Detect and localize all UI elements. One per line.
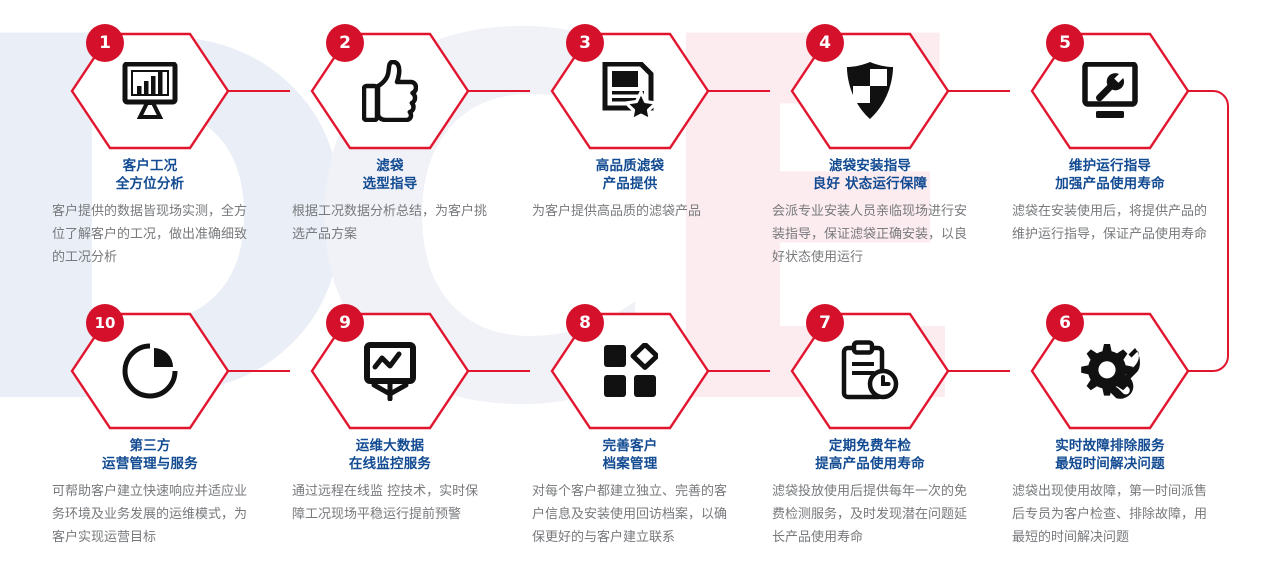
step-hex-1: 1 bbox=[70, 32, 230, 150]
step-badge-4: 4 bbox=[806, 24, 844, 62]
step-node-9[interactable]: 9 运维大数据 在线监控服务 通过远程在线监 控技术，实时保障工况现场平稳运行提… bbox=[270, 312, 510, 526]
step-node-5[interactable]: 5 维护运行指导 加强产品使用寿命 滤袋在安装使用后，将提供产品的维护运行指导，… bbox=[990, 32, 1230, 246]
step-node-3[interactable]: 3 高品质滤袋 产品提供 为客户提供高品质的滤袋产品 bbox=[510, 32, 750, 223]
step-title-line2: 加强产品使用寿命 bbox=[990, 175, 1230, 193]
step-desc-8: 对每个客户都建立独立、完善的客户信息及安装使用回访档案，以确保更好的与客户建立联… bbox=[532, 480, 728, 549]
step-hex-7: 7 bbox=[790, 312, 950, 430]
step-title-line1: 滤袋 bbox=[270, 157, 510, 175]
step-node-10[interactable]: 10 第三方 运营管理与服务 可帮助客户建立快速响应并适应业务环境及业务发展的运… bbox=[30, 312, 270, 549]
step-title-10: 第三方 运营管理与服务 bbox=[30, 437, 270, 473]
step-desc-9: 通过远程在线监 控技术，实时保障工况现场平稳运行提前预警 bbox=[292, 480, 488, 526]
step-title-line2: 运营管理与服务 bbox=[30, 455, 270, 473]
step-title-4: 滤袋安装指导 良好 状态运行保障 bbox=[750, 157, 990, 193]
step-desc-6: 滤袋出现使用故障，第一时间派售后专员为客户检查、排除故障，用最短的时间解决问题 bbox=[1012, 480, 1208, 549]
step-badge-10: 10 bbox=[86, 304, 124, 342]
step-title-line1: 高品质滤袋 bbox=[510, 157, 750, 175]
step-hex-2: 2 bbox=[310, 32, 470, 150]
step-desc-3: 为客户提供高品质的滤袋产品 bbox=[532, 200, 728, 223]
infographic-canvas: D C E bbox=[0, 0, 1281, 572]
step-title-8: 完善客户 档案管理 bbox=[510, 437, 750, 473]
step-hex-6: 6 bbox=[1030, 312, 1190, 430]
step-desc-7: 滤袋投放使用后提供每年一次的免费检测服务，及时发现潜在问题延长产品使用寿命 bbox=[772, 480, 968, 549]
step-title-line1: 运维大数据 bbox=[270, 437, 510, 455]
step-desc-5: 滤袋在安装使用后，将提供产品的维护运行指导，保证产品使用寿命 bbox=[1012, 200, 1208, 246]
step-badge-8: 8 bbox=[566, 304, 604, 342]
step-title-line2: 选型指导 bbox=[270, 175, 510, 193]
step-desc-10: 可帮助客户建立快速响应并适应业务环境及业务发展的运维模式，为客户实现运营目标 bbox=[52, 480, 248, 549]
step-title-2: 滤袋 选型指导 bbox=[270, 157, 510, 193]
step-desc-2: 根据工况数据分析总结，为客户挑选产品方案 bbox=[292, 200, 488, 246]
step-title-line1: 滤袋安装指导 bbox=[750, 157, 990, 175]
step-badge-3: 3 bbox=[566, 24, 604, 62]
step-hex-4: 4 bbox=[790, 32, 950, 150]
step-node-8[interactable]: 8 完善客户 档案管理 对每个客户都建立独立、完善的客户信息及安装使用回访档案，… bbox=[510, 312, 750, 549]
step-title-line1: 实时故障排除服务 bbox=[990, 437, 1230, 455]
step-node-1[interactable]: 1 客户工况 全方位分析 客户提供的数据皆现场实测，全方位了解客户的工况，做出准… bbox=[30, 32, 270, 269]
step-title-line2: 最短时间解决问题 bbox=[990, 455, 1230, 473]
step-hex-10: 10 bbox=[70, 312, 230, 430]
step-node-2[interactable]: 2 滤袋 选型指导 根据工况数据分析总结，为客户挑选产品方案 bbox=[270, 32, 510, 246]
step-title-line1: 定期免费年检 bbox=[750, 437, 990, 455]
step-badge-7: 7 bbox=[806, 304, 844, 342]
step-title-line1: 完善客户 bbox=[510, 437, 750, 455]
step-badge-6: 6 bbox=[1046, 304, 1084, 342]
step-title-5: 维护运行指导 加强产品使用寿命 bbox=[990, 157, 1230, 193]
step-title-line2: 档案管理 bbox=[510, 455, 750, 473]
step-hex-5: 5 bbox=[1030, 32, 1190, 150]
step-desc-1: 客户提供的数据皆现场实测，全方位了解客户的工况，做出准确细致的工况分析 bbox=[52, 200, 248, 269]
step-hex-9: 9 bbox=[310, 312, 470, 430]
step-badge-2: 2 bbox=[326, 24, 364, 62]
step-hex-8: 8 bbox=[550, 312, 710, 430]
step-title-line1: 第三方 bbox=[30, 437, 270, 455]
step-title-line1: 维护运行指导 bbox=[990, 157, 1230, 175]
step-desc-4: 会派专业安装人员亲临现场进行安装指导，保证滤袋正确安装，以良好状态使用运行 bbox=[772, 200, 968, 269]
step-hex-3: 3 bbox=[550, 32, 710, 150]
step-badge-5: 5 bbox=[1046, 24, 1084, 62]
step-title-line1: 客户工况 bbox=[30, 157, 270, 175]
step-title-line2: 全方位分析 bbox=[30, 175, 270, 193]
step-node-7[interactable]: 7 定期免费年检 提高产品使用寿命 滤袋投放使用后提供每年一次的免费检测服务，及… bbox=[750, 312, 990, 549]
step-badge-1: 1 bbox=[86, 24, 124, 62]
step-node-6[interactable]: 6 实时故障排除服务 最短时间解决问题 滤袋出现使用故障，第一时间派售后专员为客… bbox=[990, 312, 1230, 549]
step-title-line2: 良好 状态运行保障 bbox=[750, 175, 990, 193]
step-title-line2: 提高产品使用寿命 bbox=[750, 455, 990, 473]
step-title-6: 实时故障排除服务 最短时间解决问题 bbox=[990, 437, 1230, 473]
step-title-line2: 产品提供 bbox=[510, 175, 750, 193]
step-title-3: 高品质滤袋 产品提供 bbox=[510, 157, 750, 193]
step-badge-9: 9 bbox=[326, 304, 364, 342]
step-title-1: 客户工况 全方位分析 bbox=[30, 157, 270, 193]
step-node-4[interactable]: 4 滤袋安装指导 良好 状态运行保障 会派专业安装人员亲临现场进行安装指导，保证… bbox=[750, 32, 990, 269]
step-title-line2: 在线监控服务 bbox=[270, 455, 510, 473]
step-title-7: 定期免费年检 提高产品使用寿命 bbox=[750, 437, 990, 473]
step-title-9: 运维大数据 在线监控服务 bbox=[270, 437, 510, 473]
